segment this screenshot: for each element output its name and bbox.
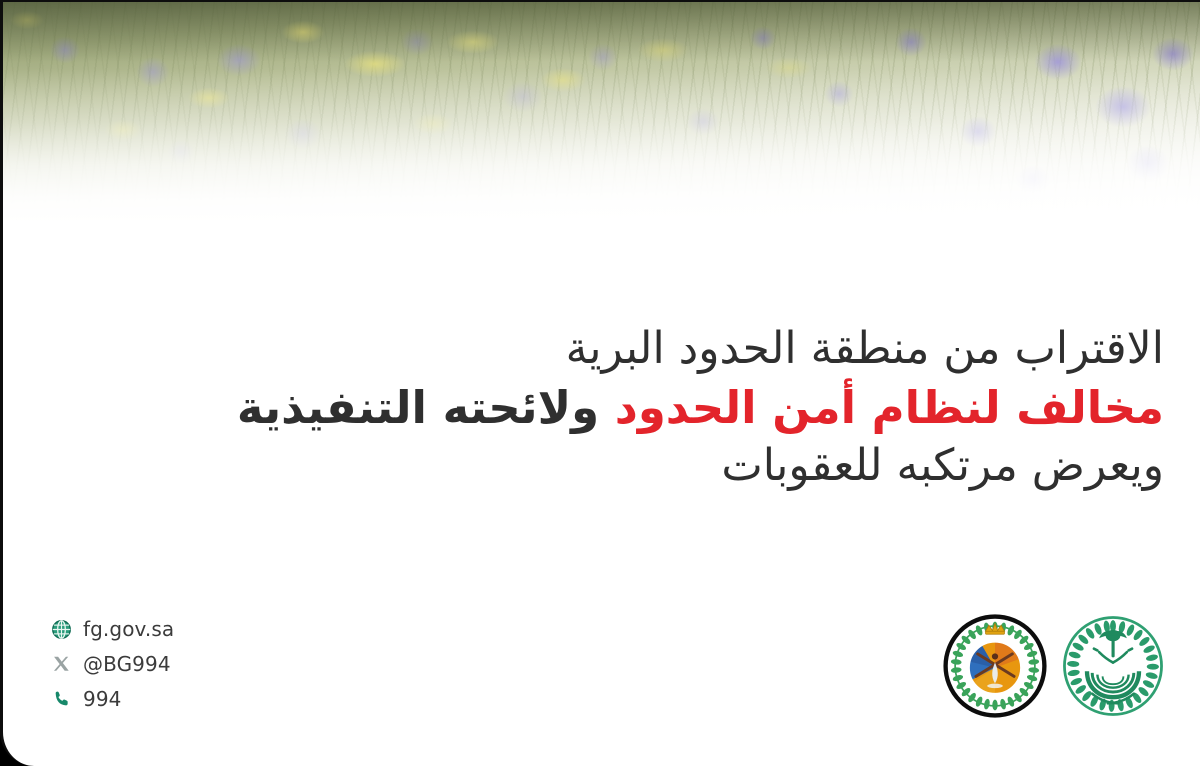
- contact-row-website[interactable]: fg.gov.sa: [51, 616, 174, 642]
- globe-icon: [51, 619, 72, 640]
- website-label: fg.gov.sa: [83, 617, 174, 641]
- contact-block: fg.gov.sa @BG994 994: [51, 616, 174, 712]
- awareness-poster: الاقتراب من منطقة الحدود البرية مخالف لن…: [0, 0, 1200, 766]
- contact-row-x[interactable]: @BG994: [51, 651, 174, 677]
- ministry-of-interior-emblem: [1061, 614, 1165, 718]
- headline-line-3: ويعرض مرتكبه للعقوبات: [39, 437, 1164, 495]
- phone-icon: [51, 689, 72, 710]
- headline-violation-text: مخالف لنظام أمن الحدود: [615, 381, 1164, 434]
- contact-row-phone[interactable]: 994: [51, 686, 174, 712]
- hero-photo-white-fade: [3, 2, 1200, 242]
- x-twitter-icon: [51, 654, 72, 675]
- headline-regulation-text: ولائحته التنفيذية: [237, 381, 615, 434]
- emblem-group: [943, 614, 1165, 718]
- headline-block: الاقتراب من منطقة الحدود البرية مخالف لن…: [39, 320, 1164, 496]
- headline-line-1: الاقتراب من منطقة الحدود البرية: [39, 320, 1164, 378]
- phone-label: 994: [83, 687, 121, 711]
- border-guard-emblem: [943, 614, 1047, 718]
- headline-line-2: مخالف لنظام أمن الحدود ولائحته التنفيذية: [39, 378, 1164, 437]
- hero-photo: [3, 2, 1200, 242]
- x-handle-label: @BG994: [83, 652, 171, 676]
